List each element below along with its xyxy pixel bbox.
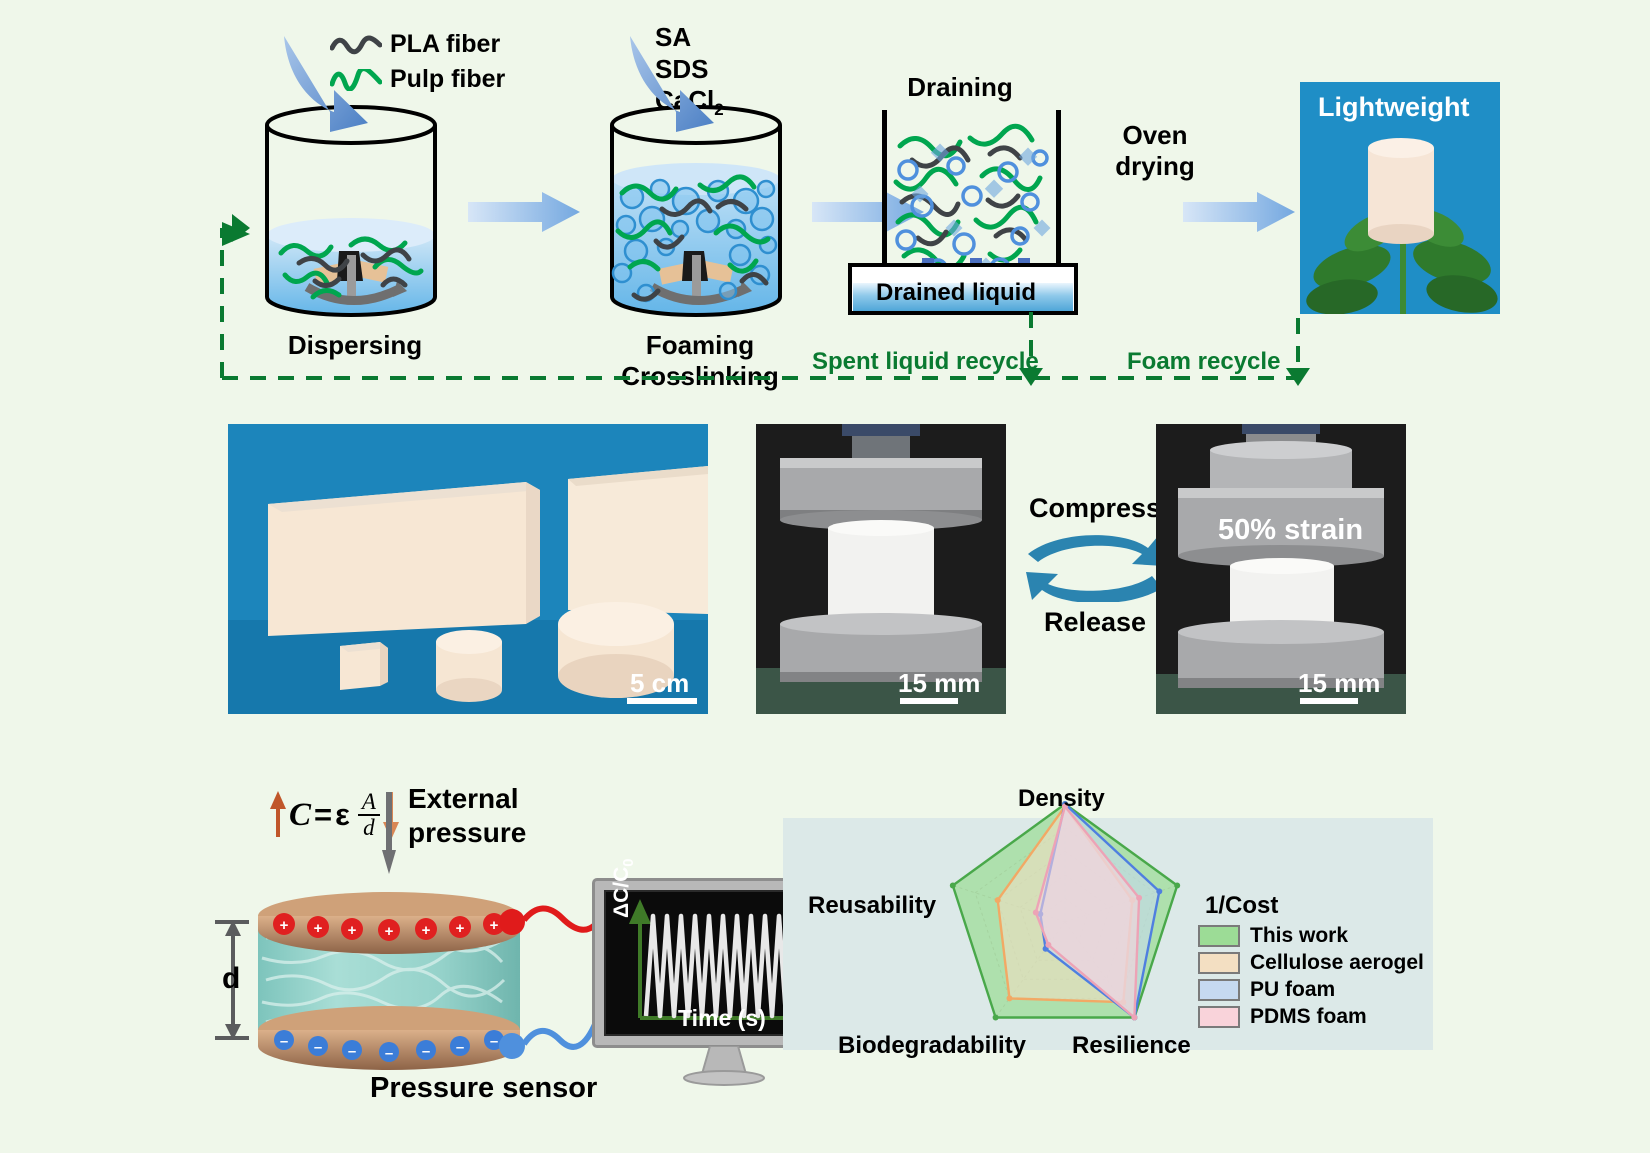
formula-denominator: d xyxy=(358,816,380,840)
svg-text:–: – xyxy=(456,1039,464,1056)
svg-text:+: + xyxy=(314,920,323,937)
figure-canvas: PLA fiber Pulp fiber SA SDS CaCl2 xyxy=(0,0,1650,1153)
radar-legend-label-pu-foam: PU foam xyxy=(1250,978,1335,1002)
radar-legend-swatch-cellulose-aerogel xyxy=(1198,952,1240,974)
scale-label-compress-before: 15 mm xyxy=(898,668,980,699)
formula-numerator: A xyxy=(358,790,380,816)
monitor-y-axis-label: ΔC/C0 xyxy=(610,859,637,918)
radar-axis-reusability: Reusability xyxy=(808,892,936,920)
monitor-x-axis-label: Time (s) xyxy=(678,1005,766,1032)
scale-label-compress-after: 15 mm xyxy=(1298,668,1380,699)
svg-text:+: + xyxy=(490,917,499,934)
thickness-label: d xyxy=(222,962,240,996)
cycle-arrows-icon xyxy=(1020,532,1170,602)
legend-label-pulp: Pulp fiber xyxy=(390,65,505,94)
svg-text:–: – xyxy=(385,1045,393,1062)
svg-text:+: + xyxy=(280,917,289,934)
legend-label-pla: PLA fiber xyxy=(390,30,500,59)
svg-text:+: + xyxy=(348,922,357,939)
formula-equals: = xyxy=(314,797,332,833)
radar-legend: This work Cellulose aerogel PU foam PDMS… xyxy=(1198,924,1424,1032)
svg-text:+: + xyxy=(385,923,394,940)
capacitance-formula: C = ε A d xyxy=(270,790,399,840)
scale-label-samples: 5 cm xyxy=(630,668,689,699)
radar-legend-label-pdms-foam: PDMS foam xyxy=(1250,1005,1367,1029)
strain-overlay-label: 50% strain xyxy=(1218,514,1363,547)
recycle-label-spent-liquid: Spent liquid recycle xyxy=(812,348,1039,376)
svg-text:–: – xyxy=(280,1033,288,1050)
radar-axis-cost: 1/Cost xyxy=(1205,892,1278,920)
radar-legend-swatch-this-work xyxy=(1198,925,1240,947)
monitor-stand xyxy=(676,1046,772,1086)
svg-text:+: + xyxy=(422,922,431,939)
formula-fraction: A d xyxy=(358,790,380,840)
radar-legend-swatch-pdms-foam xyxy=(1198,1006,1240,1028)
external-pressure-label: External pressure xyxy=(408,782,526,849)
svg-text:–: – xyxy=(422,1043,430,1060)
svg-text:–: – xyxy=(348,1043,356,1060)
radar-legend-label-this-work: This work xyxy=(1250,924,1348,948)
sensor-device: + + + + + + + – – – – – – – xyxy=(238,880,538,1085)
radar-legend-item-pu-foam: PU foam xyxy=(1198,978,1424,1002)
radar-legend-item-cellulose-aerogel: Cellulose aerogel xyxy=(1198,951,1424,975)
external-pressure-arrow-icon xyxy=(382,792,396,874)
svg-text:–: – xyxy=(314,1039,322,1056)
svg-text:–: – xyxy=(490,1033,498,1050)
radar-legend-item-pdms-foam: PDMS foam xyxy=(1198,1005,1424,1029)
sensor-caption: Pressure sensor xyxy=(370,1072,597,1105)
radar-legend-item-this-work: This work xyxy=(1198,924,1424,948)
radar-legend-label-cellulose-aerogel: Cellulose aerogel xyxy=(1250,951,1424,975)
formula-epsilon: ε xyxy=(335,797,350,833)
pour-arrow-icon-2 xyxy=(618,28,738,133)
radar-legend-swatch-pu-foam xyxy=(1198,979,1240,1001)
recycle-label-foam: Foam recycle xyxy=(1127,348,1280,376)
pour-arrow-icon-1 xyxy=(272,28,392,133)
radar-axis-biodegradability: Biodegradability xyxy=(838,1032,1026,1060)
formula-c: C xyxy=(289,797,311,834)
radar-axis-density: Density xyxy=(1018,785,1105,813)
step-caption-draining: Draining xyxy=(855,72,1065,103)
up-arrow-icon xyxy=(270,791,286,839)
radar-axis-resilience: Resilience xyxy=(1072,1032,1191,1060)
photo-label-lightweight: Lightweight xyxy=(1318,92,1469,123)
svg-text:+: + xyxy=(456,920,465,937)
step-caption-drying: Oven drying xyxy=(1090,120,1220,182)
